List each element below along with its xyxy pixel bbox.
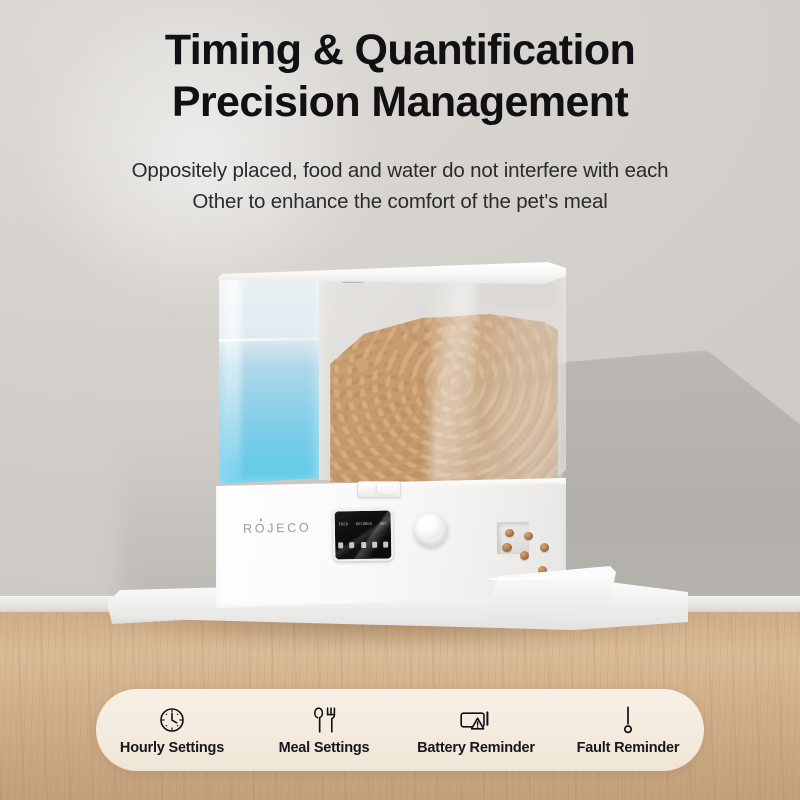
subtitle-line-1: Oppositely placed, food and water do not… [132,159,669,182]
headline-line-2: Precision Management [0,76,800,128]
falling-kibble [520,551,529,560]
feature-item-hourly-settings[interactable]: Hourly Settings [113,705,231,756]
feature-item-battery-reminder[interactable]: Battery Reminder [417,705,535,756]
falling-kibble [540,543,549,552]
headline-line-1: Timing & Quantification [165,26,635,74]
feature-bar: Hourly Settings Meal Settings [96,689,704,771]
falling-kibble [524,532,533,540]
feature-label: Fault Reminder [577,740,680,756]
brand-letter-o2: O [299,521,312,535]
subtitle-line-2: Other to enhance the comfort of the pet'… [0,186,800,217]
feature-label: Battery Reminder [417,740,535,756]
falling-kibble [505,529,514,537]
lid-latch[interactable] [357,481,401,498]
feature-label: Meal Settings [279,740,370,756]
brand-letter-c: C [287,521,299,535]
brand-letter-j: J [267,521,276,535]
display-glass-reflection [333,508,394,561]
brand-letter-e: E [276,521,287,535]
falling-kibble [502,543,512,552]
water-tank-highlight [223,276,241,478]
control-knob[interactable] [414,513,448,547]
brand-letter-o-dotted: O [255,521,268,535]
brand-logo: ROJECO [243,520,335,536]
battery-warning-icon [459,705,493,735]
control-panel-display[interactable]: FEED RECORDS SET [333,508,394,561]
clock-icon [158,705,186,735]
page-title: Timing & Quantification Precision Manage… [0,24,800,128]
exclamation-icon [621,705,635,735]
feature-item-fault-reminder[interactable]: Fault Reminder [569,705,687,756]
feature-label: Hourly Settings [120,740,224,756]
hopper-gloss-highlight [430,268,476,486]
product-marketing-image: Timing & Quantification Precision Manage… [0,0,800,800]
feature-item-meal-settings[interactable]: Meal Settings [265,705,383,756]
cutlery-icon [310,705,338,735]
page-subtitle: Oppositely placed, food and water do not… [0,155,800,217]
brand-letter-r: R [243,522,255,536]
